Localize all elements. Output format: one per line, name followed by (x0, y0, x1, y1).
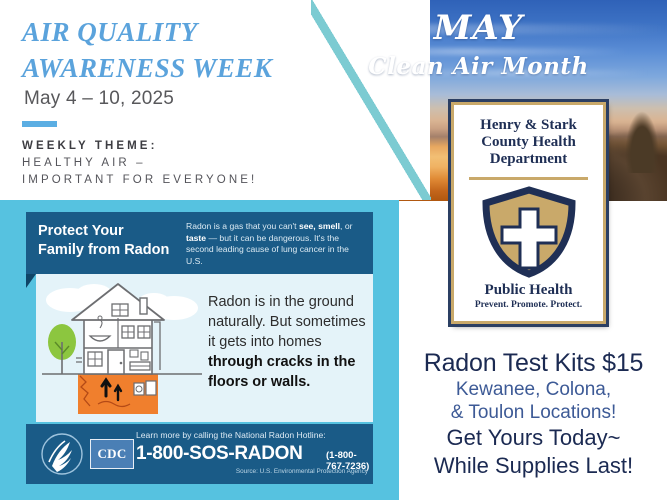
cdc-logo: CDC (90, 439, 134, 469)
kits-cta-line1: Get Yours Today~ (400, 424, 667, 452)
aqaw-dates: May 4 – 10, 2025 (24, 88, 174, 110)
weekly-theme-line2: IMPORTANT FOR EVERYONE! (22, 172, 322, 189)
logo-tagline: Prevent. Promote. Protect. (454, 300, 603, 310)
radon-copy-regular: Radon is in the ground naturally. But so… (208, 294, 366, 350)
shield-cross-icon (481, 186, 577, 278)
hhs-seal-icon (36, 432, 88, 476)
aqaw-title-line2: AWARENESS WEEK (22, 53, 272, 83)
month-heading: MAY (290, 8, 667, 48)
weekly-theme-block: WEEKLY THEME: HEALTHY AIR – IMPORTANT FO… (22, 138, 322, 189)
accent-rule-divider (22, 121, 57, 127)
radon-header-title-line2: Family from Radon (38, 242, 169, 258)
logo-name-line2: County Health (481, 134, 576, 150)
logo-name-line1: Henry & Stark (480, 117, 577, 133)
health-department-logo-card: Henry & Stark County Health Department P… (451, 102, 606, 324)
radon-header-body-bold2: taste (186, 233, 206, 243)
shield-cross-icon-wrap (454, 186, 603, 278)
house-cutaway-icon (42, 278, 202, 418)
house-cutaway-icon-wrap (42, 278, 202, 418)
radon-footer-source: Source: U.S. Environmental Protection Ag… (206, 468, 368, 475)
aqaw-title-line1: AIR QUALITY (22, 17, 198, 47)
kits-locations-line2: & Toulon Locations! (400, 401, 667, 424)
radon-header-title-line1: Protect Your (38, 223, 124, 239)
radon-header-body-bold1: see, smell (299, 221, 340, 231)
radon-header-band: Protect Your Family from Radon Radon is … (26, 212, 373, 274)
radon-header-body-pre: Radon is a gas that you can't (186, 221, 299, 231)
radon-infographic-inner: Protect Your Family from Radon Radon is … (0, 200, 399, 500)
kits-cta-line2: While Supplies Last! (400, 452, 667, 480)
weekly-theme-line1: HEALTHY AIR – (22, 155, 322, 172)
logo-department-name: Henry & Stark County Health Department (460, 117, 597, 168)
logo-divider (469, 177, 588, 180)
radon-header-body: Radon is a gas that you can't see, smell… (186, 221, 364, 267)
radon-footer-learn-more: Learn more by calling the National Radon… (136, 430, 368, 441)
logo-name-line3: Department (490, 151, 567, 167)
radon-header-title: Protect Your Family from Radon (38, 222, 178, 260)
kits-locations-line1: Kewanee, Colona, (400, 378, 667, 401)
flyer-canvas: MAY Clean Air Month AIR QUALITY AWARENES… (0, 0, 667, 500)
radon-body-copy: Radon is in the ground naturally. But so… (208, 292, 368, 392)
radon-hotline-number[interactable]: 1-800-SOS-RADON (136, 443, 303, 465)
radon-body-card: Radon is in the ground naturally. But so… (36, 274, 373, 422)
radon-test-kits-callout: Radon Test Kits $15 Kewanee, Colona, & T… (400, 348, 667, 480)
radon-copy-bold: through cracks in the floors or walls. (208, 354, 355, 390)
tree-silhouette-icon (625, 111, 659, 173)
radon-header-body-post: — but it can be dangerous. It's the seco… (186, 233, 349, 266)
weekly-theme-label: WEEKLY THEME: (22, 138, 322, 155)
kits-price-line: Radon Test Kits $15 (400, 348, 667, 378)
clean-air-month-subheading: Clean Air Month (290, 53, 667, 80)
radon-footer-band: CDC Learn more by calling the National R… (26, 424, 373, 484)
radon-infographic-panel: Protect Your Family from Radon Radon is … (0, 200, 399, 500)
logo-public-health-text: Public Health (454, 282, 603, 299)
radon-header-body-mid: , or (340, 221, 352, 231)
